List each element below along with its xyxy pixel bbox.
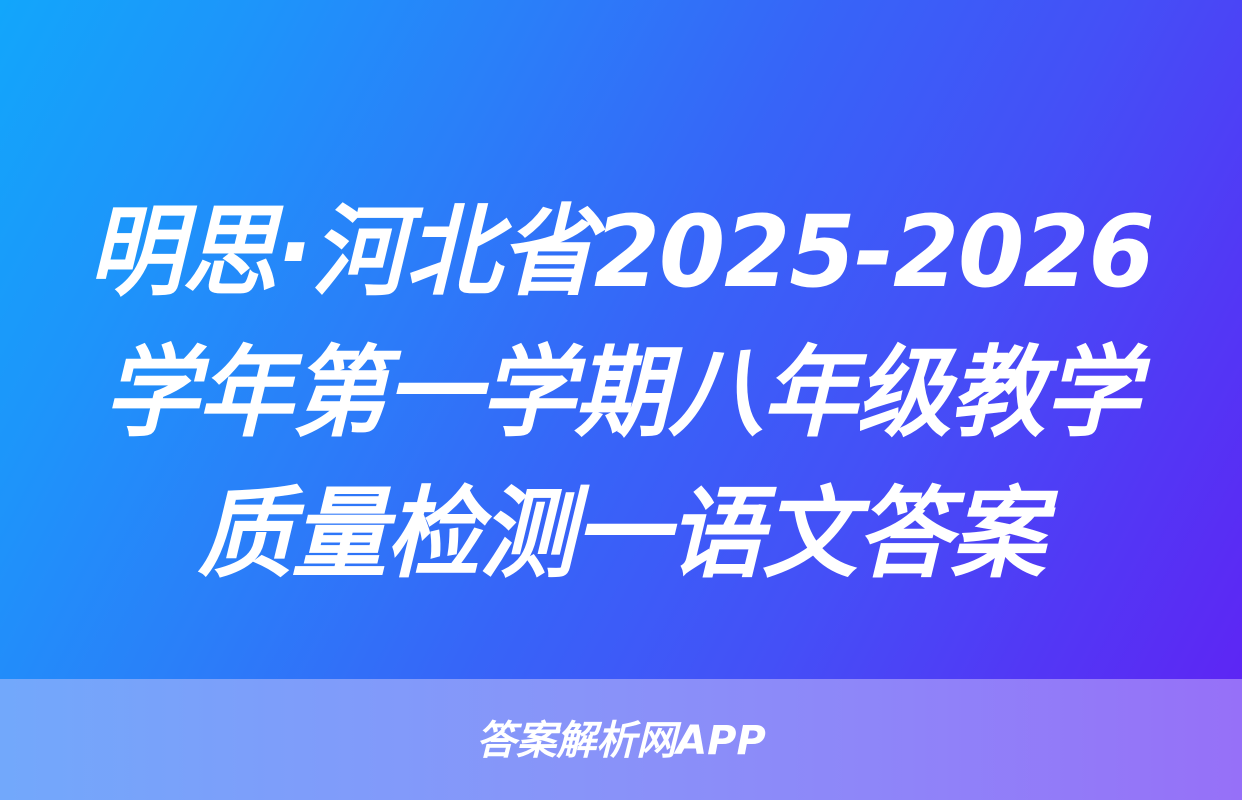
answer-banner: 明思·河北省2025-2026 学年第一学期八年级教学 质量检测一语文答案 答案… [0, 0, 1242, 800]
footer-app-label: 答案解析网APP [476, 719, 766, 763]
footer-bar: 答案解析网APP [0, 679, 1242, 800]
hero-gradient-background [0, 0, 1242, 679]
